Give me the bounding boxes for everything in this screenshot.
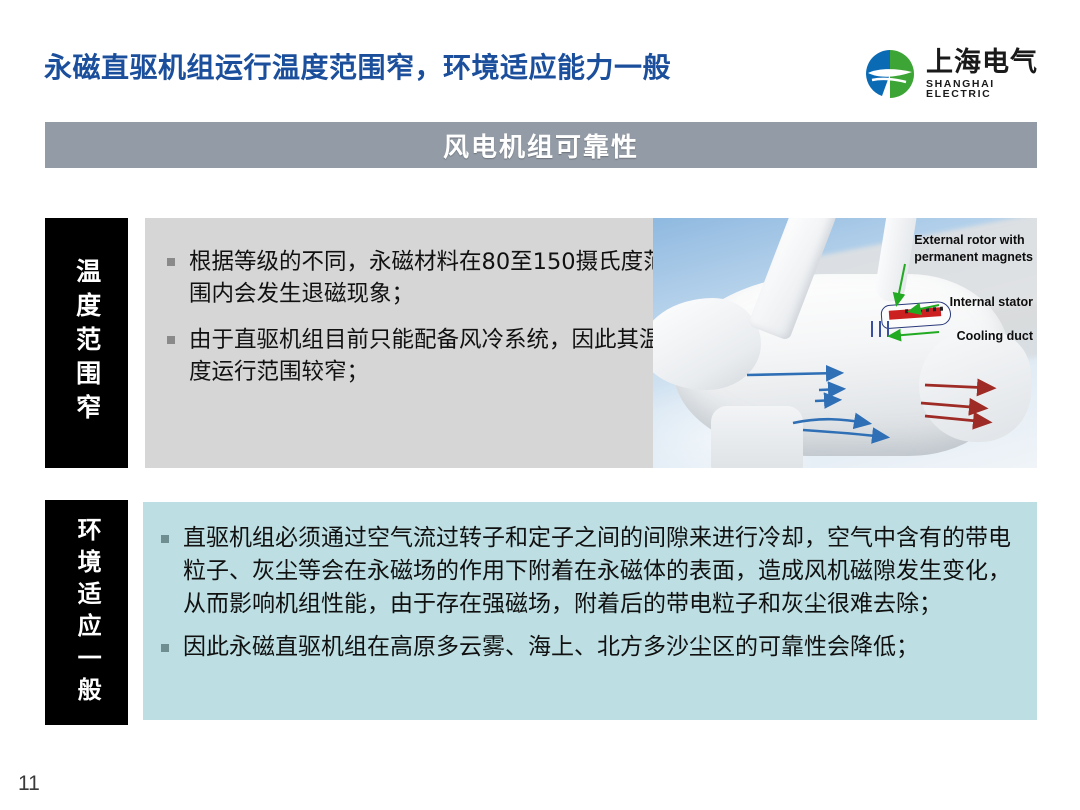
list-item: 根据等级的不同，永磁材料在80至150摄氏度范围内会发生退磁现象； bbox=[163, 246, 667, 310]
slide-canvas: 永磁直驱机组运行温度范围窄，环境适应能力一般 上海电气 SHANGHAI ELE… bbox=[0, 0, 1080, 810]
bullet-text: 根据等级的不同，永磁材料在80至150摄氏度范围内会发生退磁现象； bbox=[189, 249, 666, 307]
photo-arrow-overlay bbox=[653, 218, 1037, 468]
section-tag-label: 温度范围窄 bbox=[73, 258, 99, 428]
content-box-blue: 直驱机组必须通过空气流过转子和定子之间的间隙来进行冷却，空气中含有的带电粒子、灰… bbox=[143, 502, 1037, 720]
page-title: 永磁直驱机组运行温度范围窄，环境适应能力一般 bbox=[44, 48, 824, 88]
logo-mark-icon bbox=[862, 48, 918, 100]
section-tag-environment: 环境适应一般 bbox=[45, 500, 128, 725]
banner-title: 风电机组可靠性 bbox=[443, 127, 639, 164]
bullet-list-temperature: 根据等级的不同，永磁材料在80至150摄氏度范围内会发生退磁现象； 由于直驱机组… bbox=[163, 246, 667, 388]
bullet-text: 由于直驱机组目前只能配备风冷系统，因此其温度运行范围较窄； bbox=[189, 327, 662, 385]
section-tag-label: 环境适应一般 bbox=[74, 517, 99, 709]
turbine-cooling-photo: External rotor with permanent magnets In… bbox=[653, 218, 1037, 468]
page-number: 11 bbox=[18, 772, 40, 796]
logo-name-en: SHANGHAI ELECTRIC bbox=[926, 79, 1062, 100]
section-banner: 风电机组可靠性 bbox=[45, 122, 1037, 168]
bullet-list-environment: 直驱机组必须通过空气流过转子和定子之间的间隙来进行冷却，空气中含有的带电粒子、灰… bbox=[157, 522, 1023, 664]
section-temperature-range: 温度范围窄 根据等级的不同，永磁材料在80至150摄氏度范围内会发生退磁现象； … bbox=[45, 218, 1037, 468]
shanghai-electric-logo: 上海电气 SHANGHAI ELECTRIC bbox=[862, 46, 1062, 102]
list-item: 由于直驱机组目前只能配备风冷系统，因此其温度运行范围较窄； bbox=[163, 324, 667, 388]
bullet-text: 直驱机组必须通过空气流过转子和定子之间的间隙来进行冷却，空气中含有的带电粒子、灰… bbox=[183, 525, 1011, 617]
section-tag-temperature: 温度范围窄 bbox=[45, 218, 128, 468]
logo-name-cn: 上海电气 bbox=[926, 49, 1062, 76]
logo-text: 上海电气 SHANGHAI ELECTRIC bbox=[926, 49, 1062, 100]
list-item: 因此永磁直驱机组在高原多云雾、海上、北方多沙尘区的可靠性会降低； bbox=[157, 631, 1023, 664]
bullet-text: 因此永磁直驱机组在高原多云雾、海上、北方多沙尘区的可靠性会降低； bbox=[183, 634, 919, 660]
list-item: 直驱机组必须通过空气流过转子和定子之间的间隙来进行冷却，空气中含有的带电粒子、灰… bbox=[157, 522, 1023, 621]
content-box-gray: 根据等级的不同，永磁材料在80至150摄氏度范围内会发生退磁现象； 由于直驱机组… bbox=[145, 218, 685, 468]
section-environment-adaptability: 环境适应一般 直驱机组必须通过空气流过转子和定子之间的间隙来进行冷却，空气中含有… bbox=[45, 500, 1037, 722]
